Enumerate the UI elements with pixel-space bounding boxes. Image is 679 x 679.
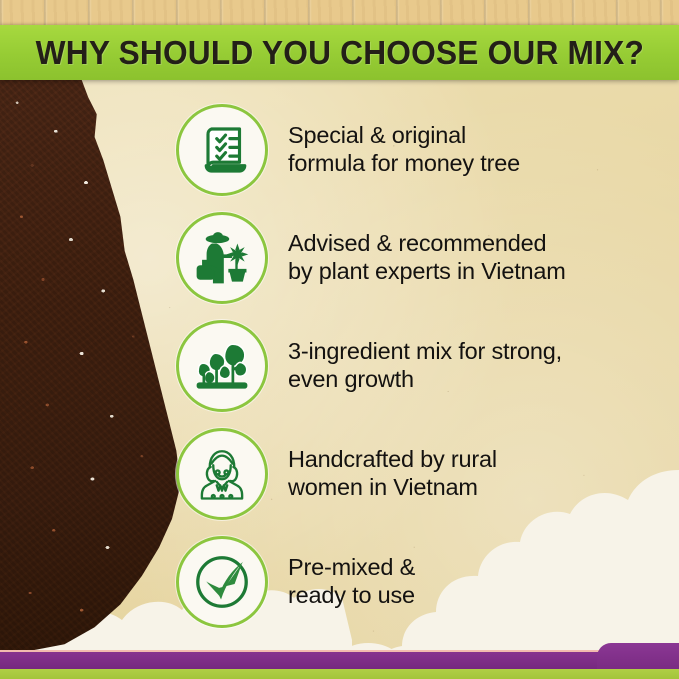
feature-list: Special & original formula for money tre…: [0, 96, 679, 636]
feature-line-1: 3-ingredient mix for strong,: [288, 338, 562, 366]
feature-row: Handcrafted by rural women in Vietnam: [0, 420, 679, 528]
feature-row: Pre-mixed & ready to use: [0, 528, 679, 636]
feature-line-1: Handcrafted by rural: [288, 446, 497, 474]
feature-row: Special & original formula for money tre…: [0, 96, 679, 204]
feature-text: Special & original formula for money tre…: [288, 122, 520, 177]
purple-footer-bar: [0, 652, 679, 669]
header-banner: WHY SHOULD YOU CHOOSE OUR MIX?: [0, 25, 679, 80]
infographic-panel: WHY SHOULD YOU CHOOSE OUR MIX?: [0, 0, 679, 679]
feature-line-1: Advised & recommended: [288, 230, 566, 258]
checklist-scroll-icon: [194, 122, 250, 178]
feature-icon-badge: [176, 212, 268, 304]
feature-line-2: formula for money tree: [288, 150, 520, 178]
feature-text: 3-ingredient mix for strong, even growth: [288, 338, 562, 393]
feature-line-2: by plant experts in Vietnam: [288, 258, 566, 286]
feature-line-2: ready to use: [288, 582, 415, 610]
green-footer-bar: [0, 669, 679, 679]
feature-row: Advised & recommended by plant experts i…: [0, 204, 679, 312]
page-title: WHY SHOULD YOU CHOOSE OUR MIX?: [35, 34, 643, 72]
feature-icon-badge: [176, 428, 268, 520]
woman-artisan-icon: [194, 446, 250, 502]
feature-line-1: Special & original: [288, 122, 520, 150]
feature-text: Advised & recommended by plant experts i…: [288, 230, 566, 285]
checkmark-circle-icon: [191, 551, 253, 613]
feature-icon-badge: [176, 320, 268, 412]
purple-footer-step: [597, 643, 679, 669]
feature-line-2: women in Vietnam: [288, 474, 497, 502]
seedlings-icon: [193, 337, 251, 395]
feature-text: Handcrafted by rural women in Vietnam: [288, 446, 497, 501]
feature-line-1: Pre-mixed &: [288, 554, 415, 582]
gardener-watering-icon: [193, 229, 251, 287]
feature-icon-badge: [176, 536, 268, 628]
feature-text: Pre-mixed & ready to use: [288, 554, 415, 609]
feature-row: 3-ingredient mix for strong, even growth: [0, 312, 679, 420]
feature-icon-badge: [176, 104, 268, 196]
feature-line-2: even growth: [288, 366, 562, 394]
